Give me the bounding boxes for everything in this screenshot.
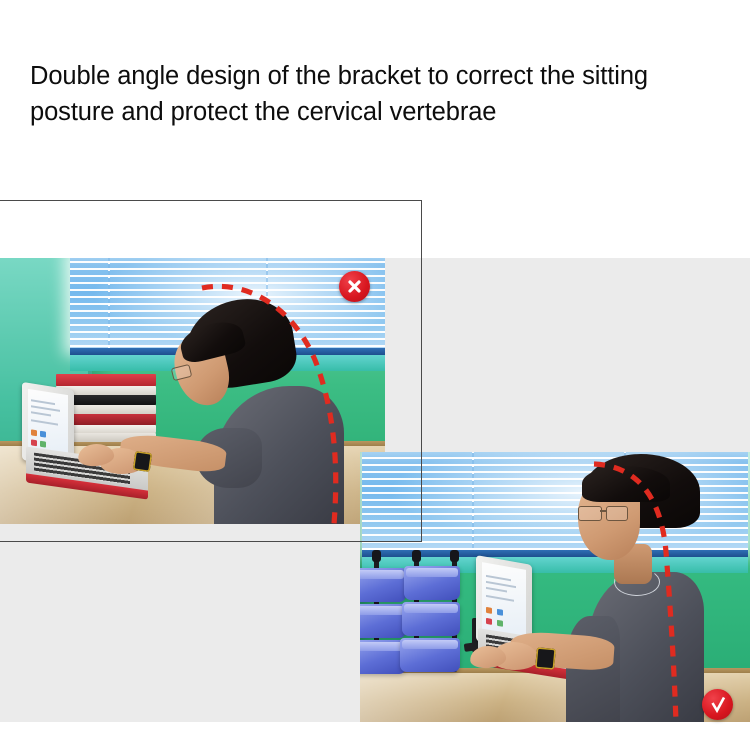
bad-posture-spine-line [0, 258, 385, 524]
good-posture-spine-line [360, 452, 750, 722]
cross-icon [339, 271, 370, 302]
headline-line-1: Double angle design of the bracket to co… [30, 58, 730, 94]
headline-line-2: posture and protect the cervical vertebr… [30, 94, 730, 130]
bottom-white-strip [0, 722, 750, 750]
good-posture-photo [360, 452, 750, 722]
bad-posture-photo [0, 258, 385, 524]
check-icon [702, 689, 733, 720]
page-title: Double angle design of the bracket to co… [30, 58, 730, 130]
